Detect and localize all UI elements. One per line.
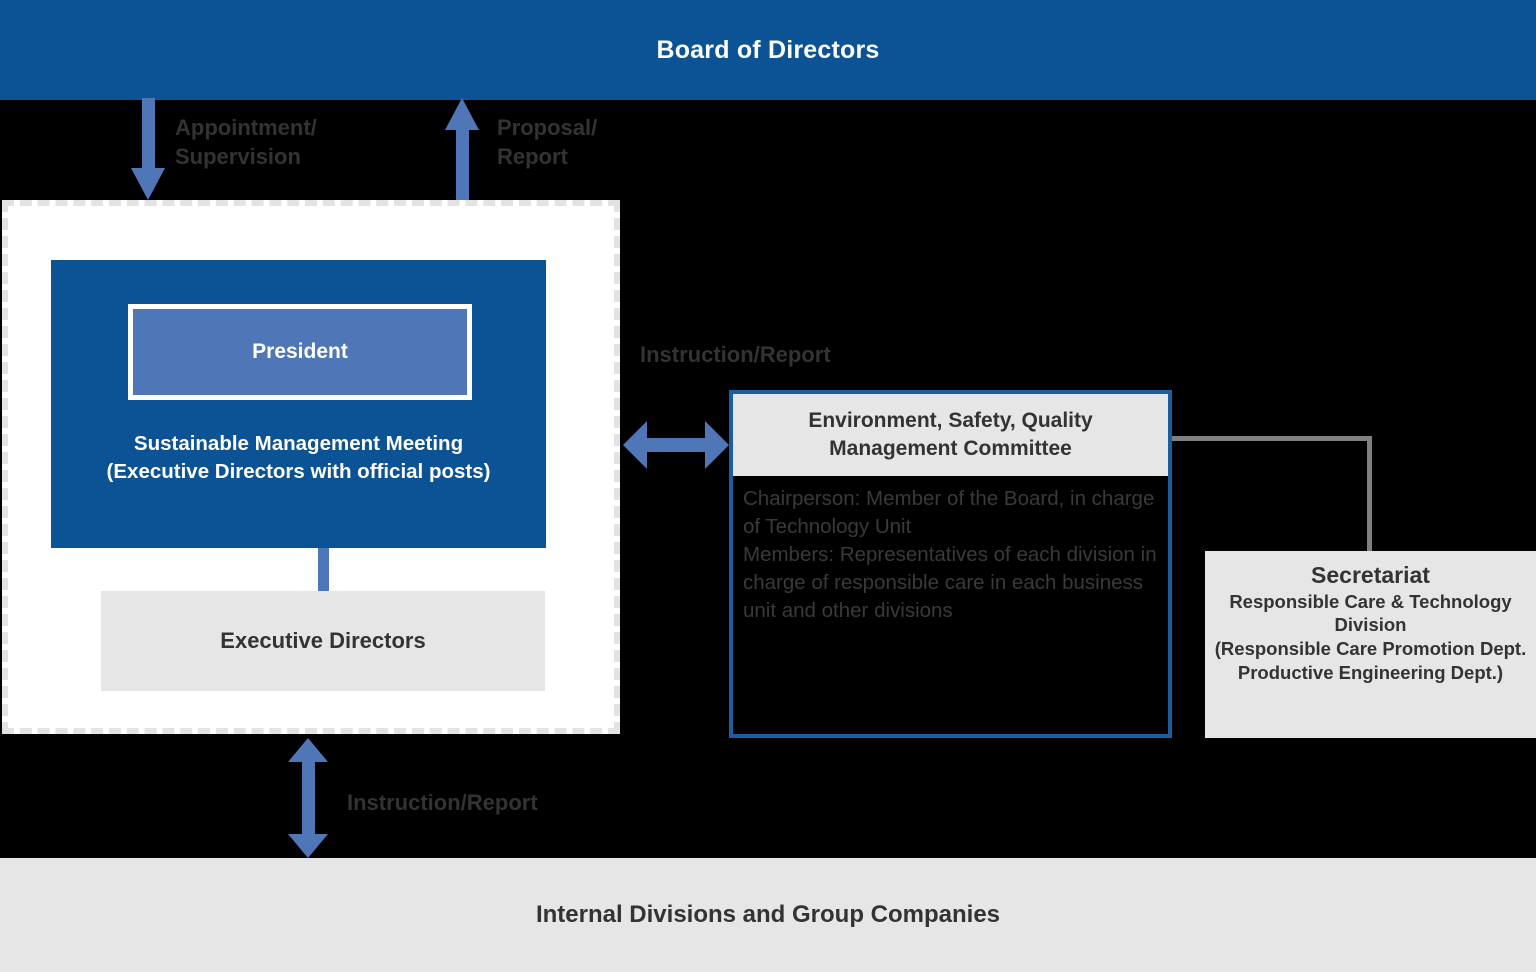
management-group-container: President Sustainable Management Meeting…	[2, 200, 620, 734]
arrow-shaft	[456, 128, 469, 200]
arrow-head-up	[445, 98, 479, 130]
instruction-report-label-horizontal: Instruction/Report	[640, 340, 831, 369]
executive-directors-box: Executive Directors	[101, 591, 545, 691]
sustainable-management-meeting-block: President Sustainable Management Meeting…	[51, 260, 546, 548]
proposal-report-arrow-up	[445, 98, 479, 200]
sustainable-management-meeting-text: Sustainable Management Meeting (Executiv…	[51, 430, 546, 487]
internal-divisions-group-companies-label: Internal Divisions and Group Companies	[536, 901, 1000, 929]
arrow-head-left	[623, 421, 647, 469]
committee-body-text: Chairperson: Member of the Board, in cha…	[733, 476, 1168, 625]
committee-header-label: Environment, Safety, Quality Management …	[733, 394, 1168, 476]
instruction-report-arrow-vertical	[288, 738, 328, 858]
president-box: President	[128, 304, 472, 400]
org-chart-diagram: Board of Directors Appointment/ Supervis…	[0, 0, 1536, 972]
secretariat-details: Responsible Care & Technology Division (…	[1213, 590, 1528, 685]
arrow-shaft	[302, 760, 315, 836]
arrow-head-down	[131, 168, 165, 200]
meeting-title-line1: Sustainable Management Meeting	[51, 430, 546, 458]
arrow-shaft	[142, 98, 155, 170]
meeting-to-executive-connector	[318, 548, 329, 592]
secretariat-title: Secretariat	[1213, 561, 1528, 590]
committee-secretariat-connector-vertical	[1367, 436, 1372, 553]
meeting-title-line2: (Executive Directors with official posts…	[51, 458, 546, 486]
arrow-head-down	[288, 834, 328, 858]
arrow-head-up	[288, 738, 328, 762]
president-label: President	[252, 340, 348, 364]
instruction-report-arrow-horizontal	[623, 421, 729, 469]
proposal-report-label: Proposal/ Report	[497, 113, 597, 172]
board-of-directors-bar: Board of Directors	[0, 0, 1536, 100]
appointment-supervision-label: Appointment/ Supervision	[175, 113, 317, 172]
secretariat-box: Secretariat Responsible Care & Technolog…	[1205, 551, 1536, 738]
committee-secretariat-connector-horizontal	[1172, 436, 1372, 441]
arrow-head-right	[705, 421, 729, 469]
arrow-shaft	[645, 438, 707, 452]
board-of-directors-label: Board of Directors	[656, 36, 879, 65]
executive-directors-label: Executive Directors	[220, 628, 425, 654]
environment-safety-quality-management-committee-box: Environment, Safety, Quality Management …	[729, 390, 1172, 738]
appointment-supervision-arrow-down	[131, 98, 165, 200]
internal-divisions-group-companies-bar: Internal Divisions and Group Companies	[0, 858, 1536, 972]
instruction-report-label-vertical: Instruction/Report	[347, 788, 538, 817]
